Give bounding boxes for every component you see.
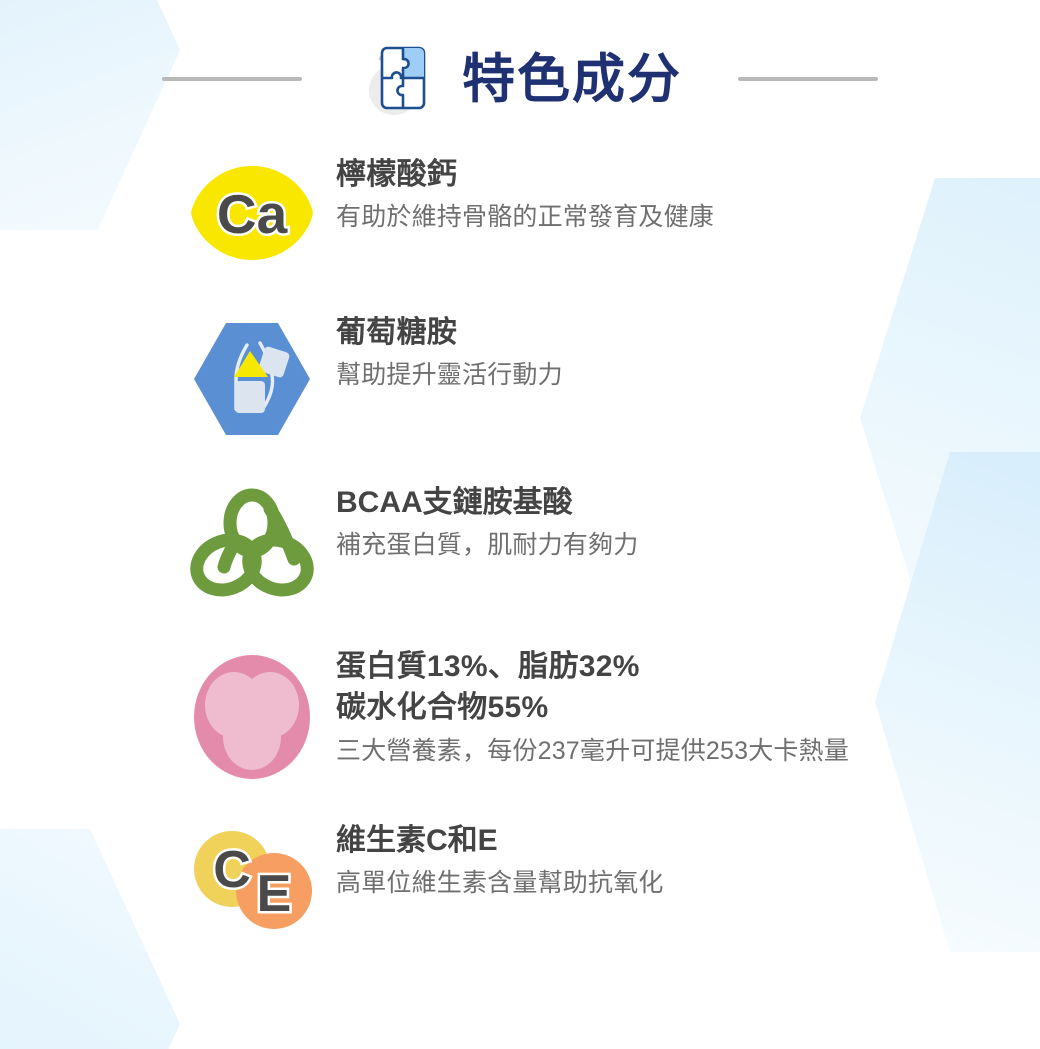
ingredient-title: 葡萄糖胺 bbox=[336, 313, 920, 353]
ingredient-description: 幫助提升靈活行動力 bbox=[336, 357, 920, 393]
page-title: 特色成分 bbox=[462, 53, 682, 106]
ingredient-item-macronutrients: 蛋白質13%、脂肪32% 碳水化合物55% 三大營養素，每份237毫升可提供25… bbox=[0, 647, 1040, 785]
ingredient-text-macronutrients: 蛋白質13%、脂肪32% 碳水化合物55% 三大營養素，每份237毫升可提供25… bbox=[322, 647, 1040, 769]
section-header: 特色成分 bbox=[0, 36, 1040, 122]
divider-line-right bbox=[738, 77, 878, 81]
vitamin-ce-icon: C E bbox=[182, 821, 322, 935]
ingredient-item-glucosamine: 葡萄糖胺 幫助提升靈活行動力 bbox=[0, 313, 1040, 443]
ingredient-description: 高單位維生素含量幫助抗氧化 bbox=[336, 865, 920, 901]
ingredient-description: 補充蛋白質，肌耐力有夠力 bbox=[336, 527, 920, 563]
ingredient-title: 維生素C和E bbox=[336, 821, 920, 861]
ingredient-item-bcaa: BCAA支鏈胺基酸 補充蛋白質，肌耐力有夠力 bbox=[0, 483, 1040, 609]
calcium-symbol-text: Ca bbox=[217, 183, 288, 245]
ingredient-description: 三大營養素，每份237毫升可提供253大卡熱量 bbox=[336, 733, 920, 769]
puzzle-icon bbox=[358, 36, 444, 122]
ingredient-title: 檸檬酸鈣 bbox=[336, 155, 920, 195]
header-center-group: 特色成分 bbox=[358, 36, 682, 122]
ingredient-title: BCAA支鏈胺基酸 bbox=[336, 483, 920, 523]
glucosamine-joint-icon bbox=[182, 313, 322, 443]
divider-line-left bbox=[162, 77, 302, 81]
vitamin-c-letter: C bbox=[213, 841, 251, 899]
ingredient-text-vitamin-ce: 維生素C和E 高單位維生素含量幫助抗氧化 bbox=[322, 821, 1040, 901]
ingredient-item-vitamin-ce: C E 維生素C和E 高單位維生素含量幫助抗氧化 bbox=[0, 821, 1040, 935]
ingredient-description: 有助於維持骨骼的正常發育及健康 bbox=[336, 199, 920, 235]
ingredient-text-bcaa: BCAA支鏈胺基酸 補充蛋白質，肌耐力有夠力 bbox=[322, 483, 1040, 563]
macronutrient-venn-icon bbox=[182, 647, 322, 785]
ingredient-item-calcium: Ca 檸檬酸鈣 有助於維持骨骼的正常發育及健康 bbox=[0, 155, 1040, 269]
ingredient-text-glucosamine: 葡萄糖胺 幫助提升靈活行動力 bbox=[322, 313, 1040, 393]
ingredient-title-line-1: 蛋白質13%、脂肪32% bbox=[336, 647, 920, 688]
ingredient-list: Ca 檸檬酸鈣 有助於維持骨骼的正常發育及健康 bbox=[0, 155, 1040, 935]
vitamin-e-letter: E bbox=[257, 865, 292, 923]
ingredient-title-line-2: 碳水化合物55% bbox=[336, 688, 920, 729]
featured-ingredients-page: 特色成分 Ca 檸檬酸鈣 有助於維持骨骼的正常發育及健康 bbox=[0, 0, 1040, 1049]
ingredient-text-calcium: 檸檬酸鈣 有助於維持骨骼的正常發育及健康 bbox=[322, 155, 1040, 235]
calcium-ca-icon: Ca bbox=[182, 155, 322, 269]
bcaa-knot-icon bbox=[182, 483, 322, 609]
